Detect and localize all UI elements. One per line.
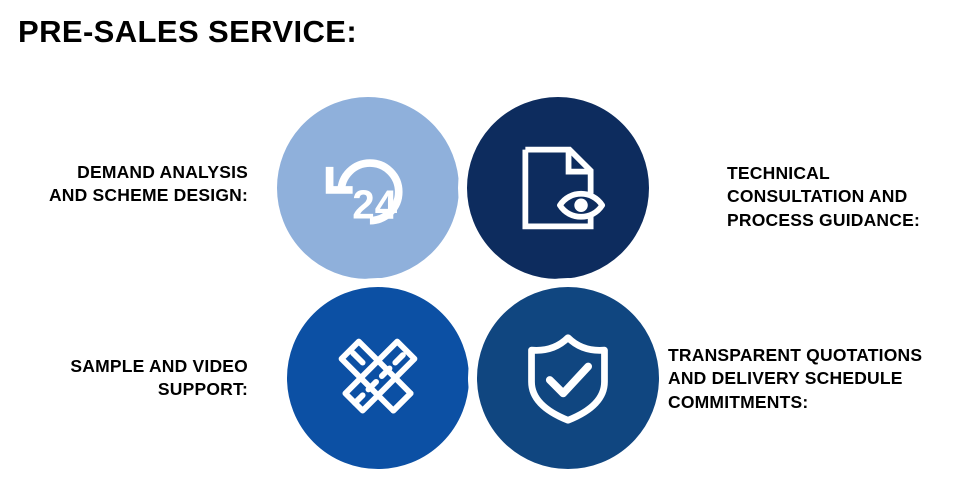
label-demand-analysis: DEMAND ANALYSIS AND SCHEME DESIGN: bbox=[0, 161, 248, 208]
svg-text:24: 24 bbox=[352, 182, 397, 228]
label-line: SUPPORT: bbox=[0, 378, 248, 401]
label-line: COMMITMENTS: bbox=[668, 391, 960, 414]
circle-technical-consultation[interactable] bbox=[458, 88, 658, 288]
label-line: AND SCHEME DESIGN: bbox=[0, 184, 248, 207]
circle-transparent-quotations[interactable] bbox=[468, 278, 668, 478]
label-line: SAMPLE AND VIDEO bbox=[0, 355, 248, 378]
label-sample-video-support: SAMPLE AND VIDEO SUPPORT: bbox=[0, 355, 248, 402]
label-line: TECHNICAL bbox=[727, 162, 959, 185]
shield-check-icon bbox=[520, 330, 616, 426]
label-line: AND DELIVERY SCHEDULE bbox=[668, 367, 960, 390]
label-line: DEMAND ANALYSIS bbox=[0, 161, 248, 184]
label-technical-consultation: TECHNICAL CONSULTATION AND PROCESS GUIDA… bbox=[727, 162, 959, 232]
label-line: PROCESS GUIDANCE: bbox=[727, 209, 959, 232]
document-eye-review-icon bbox=[510, 140, 606, 236]
circle-demand-analysis[interactable]: 24 bbox=[268, 88, 468, 288]
venn-circle-cluster: 24 bbox=[268, 88, 668, 478]
label-transparent-quotations: TRANSPARENT QUOTATIONS AND DELIVERY SCHE… bbox=[668, 344, 960, 414]
page-title: PRE-SALES SERVICE: bbox=[18, 14, 357, 50]
circle-sample-video-support[interactable] bbox=[278, 278, 478, 478]
label-line: CONSULTATION AND bbox=[727, 185, 959, 208]
label-line: TRANSPARENT QUOTATIONS bbox=[668, 344, 960, 367]
24-hour-rotate-icon: 24 bbox=[320, 140, 416, 236]
pen-ruler-design-icon bbox=[330, 330, 426, 426]
